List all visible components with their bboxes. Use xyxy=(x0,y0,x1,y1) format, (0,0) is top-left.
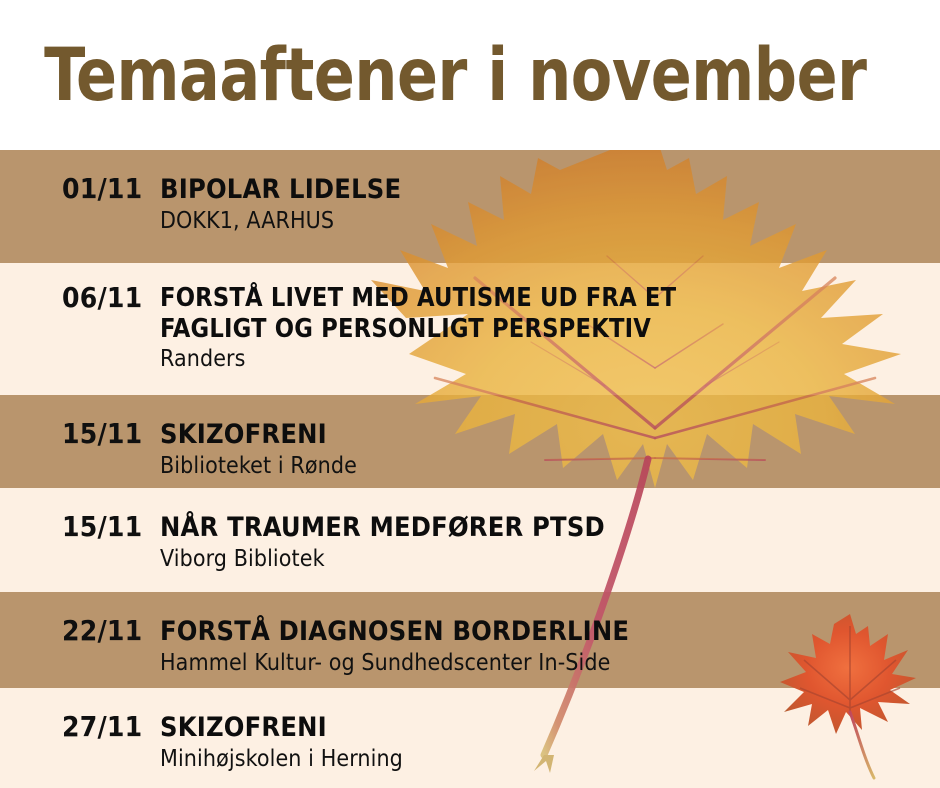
event-title: FORSTÅ DIAGNOSEN BORDERLINE xyxy=(160,616,940,648)
page-title: Temaaftener i november xyxy=(0,39,866,112)
event-venue: Randers xyxy=(160,346,940,374)
event-date: 06/11 xyxy=(0,283,160,314)
schedule-row[interactable]: 01/11BIPOLAR LIDELSEDOKK1, AARHUS xyxy=(0,174,940,287)
event-title: BIPOLAR LIDELSE xyxy=(160,174,940,206)
schedule-row[interactable]: 27/11SKIZOFRENIMinihøjskolen i Herning xyxy=(0,712,940,788)
event-details: SKIZOFRENIBiblioteket i Rønde xyxy=(160,419,940,480)
event-title: SKIZOFRENI xyxy=(160,712,940,744)
schedule-row[interactable]: 15/11SKIZOFRENIBiblioteket i Rønde xyxy=(0,419,940,512)
event-venue: Hammel Kultur- og Sundhedscenter In-Side xyxy=(160,650,940,678)
event-date: 22/11 xyxy=(0,616,160,647)
event-venue: DOKK1, AARHUS xyxy=(160,208,940,236)
schedule-row[interactable]: 06/11FORSTÅ LIVET MED AUTISME UD FRA ET … xyxy=(0,283,940,415)
event-venue: Minihøjskolen i Herning xyxy=(160,746,940,774)
schedule-row[interactable]: 15/11NÅR TRAUMER MEDFØRER PTSDViborg Bib… xyxy=(0,512,940,616)
event-title: FORSTÅ LIVET MED AUTISME UD FRA ET FAGLI… xyxy=(160,283,917,344)
event-details: NÅR TRAUMER MEDFØRER PTSDViborg Bibliote… xyxy=(160,512,940,573)
event-details: FORSTÅ DIAGNOSEN BORDERLINEHammel Kultur… xyxy=(160,616,940,677)
poster-canvas: Temaaftener i november 01/11BIPOLAR LIDE… xyxy=(0,0,940,788)
event-details: FORSTÅ LIVET MED AUTISME UD FRA ET FAGLI… xyxy=(160,283,940,374)
event-details: BIPOLAR LIDELSEDOKK1, AARHUS xyxy=(160,174,940,235)
poster-header: Temaaftener i november xyxy=(0,0,940,150)
schedule-row[interactable]: 22/11FORSTÅ DIAGNOSEN BORDERLINEHammel K… xyxy=(0,616,940,712)
event-venue: Biblioteket i Rønde xyxy=(160,453,940,481)
event-date: 15/11 xyxy=(0,512,160,543)
event-date: 27/11 xyxy=(0,712,160,743)
event-venue: Viborg Bibliotek xyxy=(160,546,940,574)
event-title: NÅR TRAUMER MEDFØRER PTSD xyxy=(160,512,940,544)
event-date: 15/11 xyxy=(0,419,160,450)
event-details: SKIZOFRENIMinihøjskolen i Herning xyxy=(160,712,940,773)
event-title: SKIZOFRENI xyxy=(160,419,940,451)
schedule-list: 01/11BIPOLAR LIDELSEDOKK1, AARHUS06/11FO… xyxy=(0,150,940,788)
event-date: 01/11 xyxy=(0,174,160,205)
